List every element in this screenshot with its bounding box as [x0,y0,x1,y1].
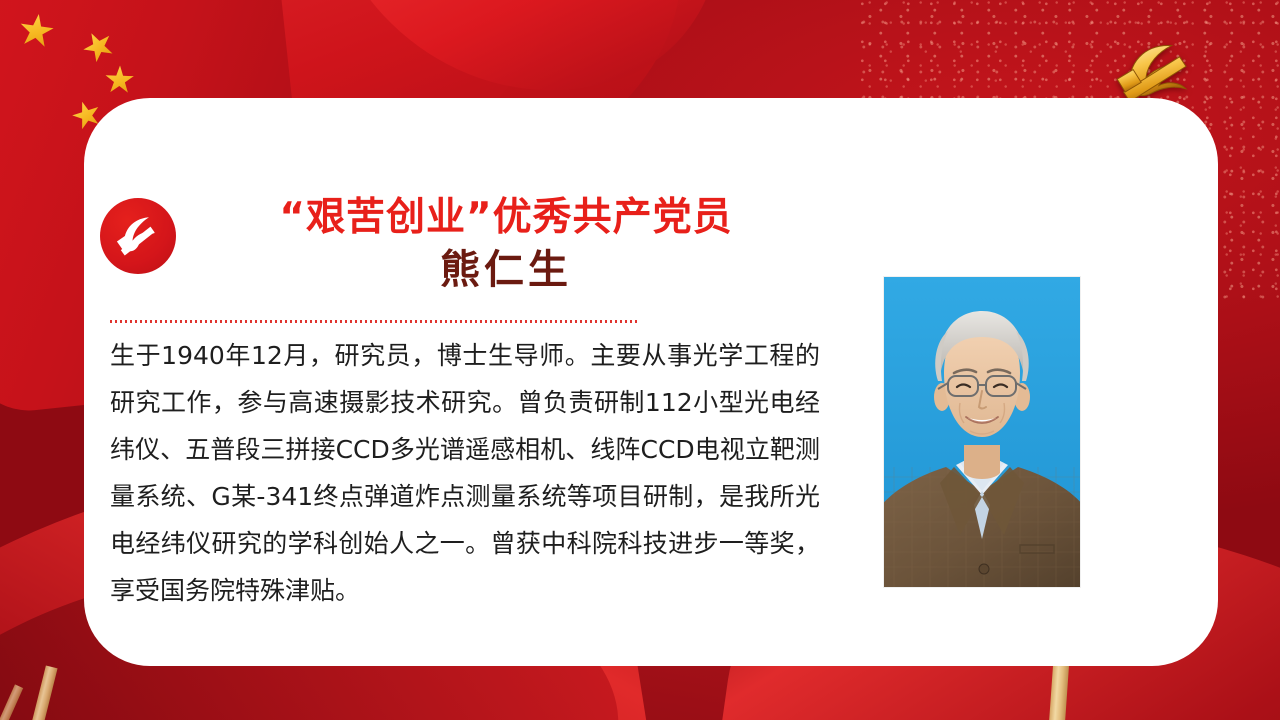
biography-text: 生于1940年12月，研究员，博士生导师。主要从事光学工程的研究工作，参与高速摄… [110,332,820,614]
gold-hammer-sickle-icon [1106,36,1202,102]
person-name: 熊仁生 [196,245,816,295]
hammer-sickle-icon [113,211,163,261]
slide-root: “艰苦创业”优秀共产党员 熊仁生 生于1940年12月，研究员，博士生导师。主要… [0,0,1280,720]
party-emblem-badge [100,198,176,274]
title-block: “艰苦创业”优秀共产党员 熊仁生 [196,196,816,295]
five-point-star-icon [78,26,119,67]
five-point-star-icon [105,65,135,95]
five-point-star-icon [0,67,10,167]
dotted-divider [110,320,640,323]
portrait-photo [884,277,1080,587]
five-point-star-icon [17,12,55,50]
page-title: “艰苦创业”优秀共产党员 [196,196,816,241]
